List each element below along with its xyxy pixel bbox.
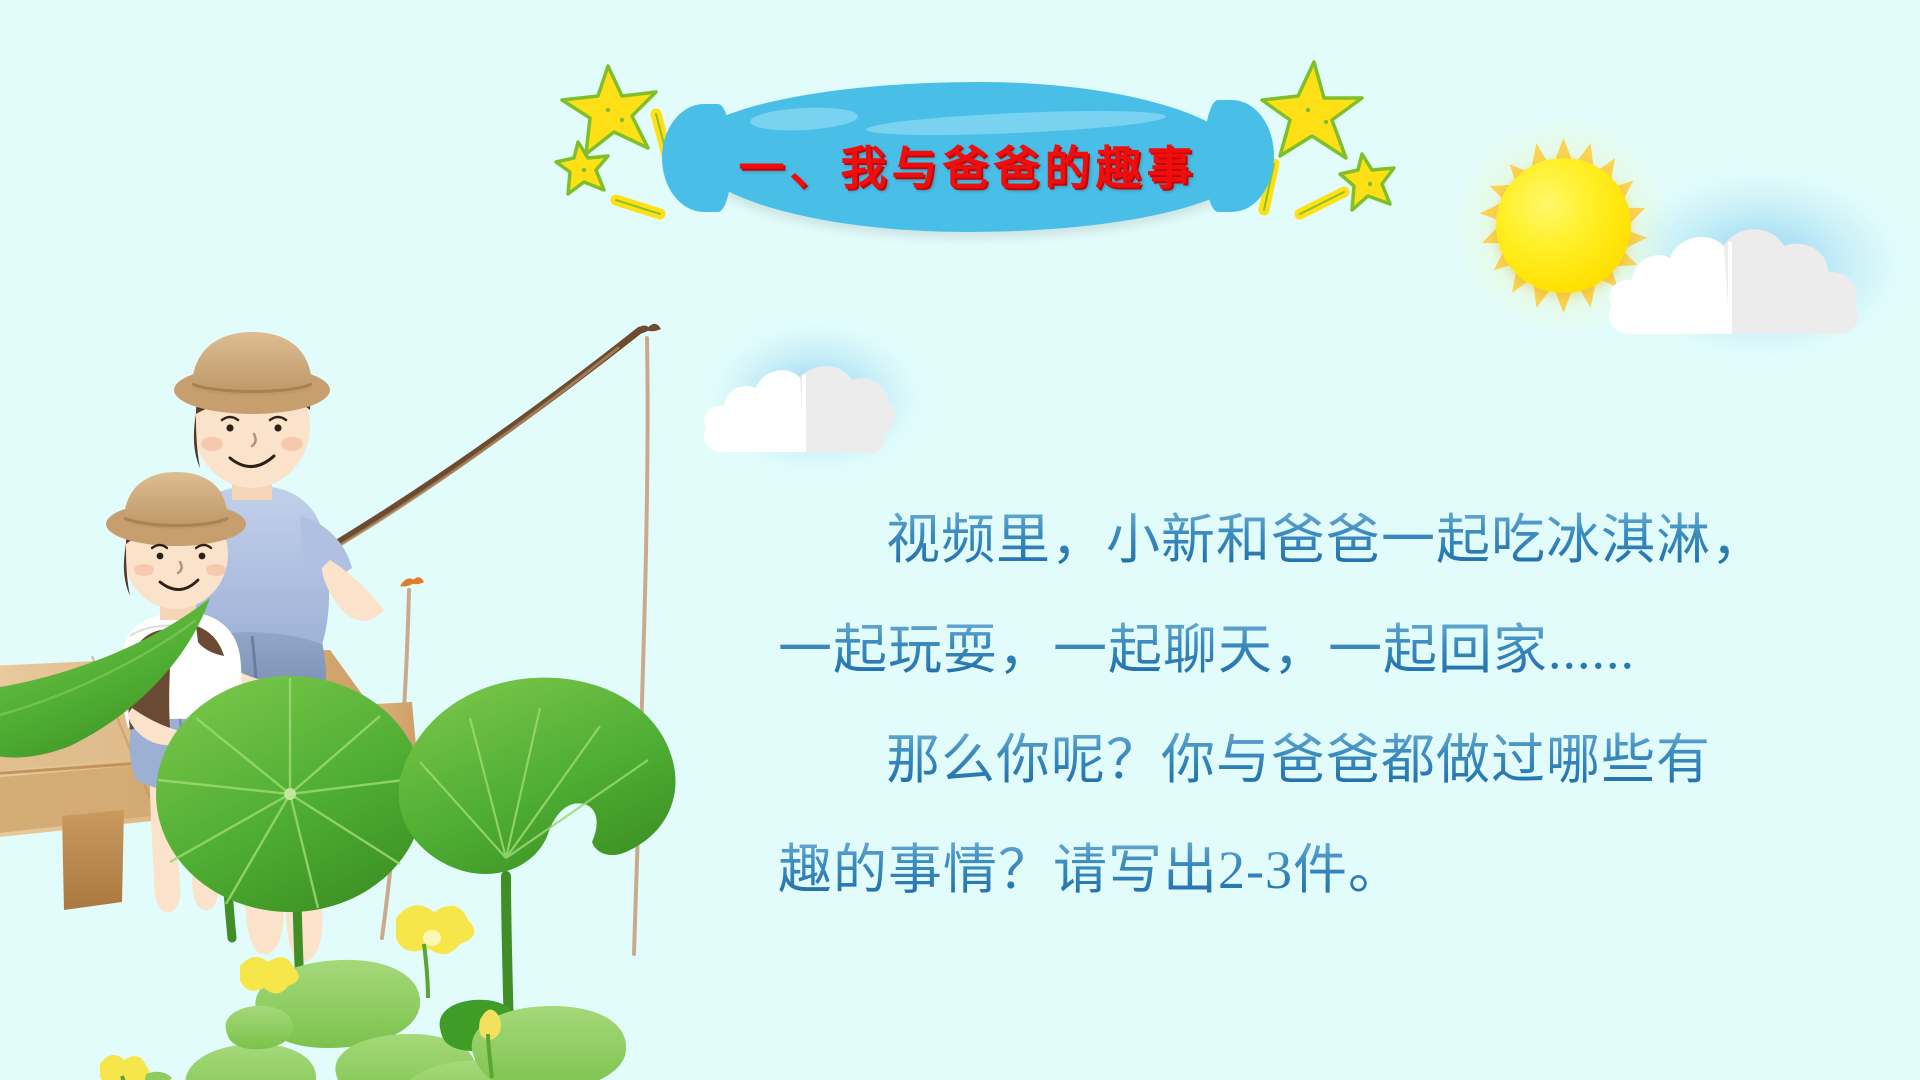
star-icon bbox=[556, 142, 608, 194]
body-text-block: 视频里，小新和爸爸一起吃冰淇淋， 一起玩耍，一起聊天，一起回家...... 那么… bbox=[778, 492, 1778, 932]
star-icon bbox=[1262, 62, 1362, 158]
cloud-icon bbox=[700, 360, 900, 470]
section-title-text: 一、我与爸爸的趣事 bbox=[688, 82, 1248, 232]
cloud-top-right bbox=[1604, 216, 1874, 356]
section-title-banner: 一、我与爸爸的趣事 bbox=[688, 82, 1248, 232]
father-and-son-fishing-illustration bbox=[0, 238, 700, 1080]
body-text-line-4: 趣的事情？请写出2-3件。 bbox=[778, 822, 1778, 918]
body-text-line-1: 视频里，小新和爸爸一起吃冰淇淋， bbox=[778, 492, 1778, 588]
cloud-icon bbox=[1604, 216, 1874, 356]
star-icon bbox=[1340, 154, 1394, 210]
body-text-line-2: 一起玩耍，一起聊天，一起回家...... bbox=[778, 602, 1778, 698]
body-text-line-3: 那么你呢？你与爸爸都做过哪些有 bbox=[778, 712, 1778, 808]
slide-canvas: 一、我与爸爸的趣事 bbox=[0, 0, 1920, 1080]
cloud-middle bbox=[700, 360, 900, 470]
